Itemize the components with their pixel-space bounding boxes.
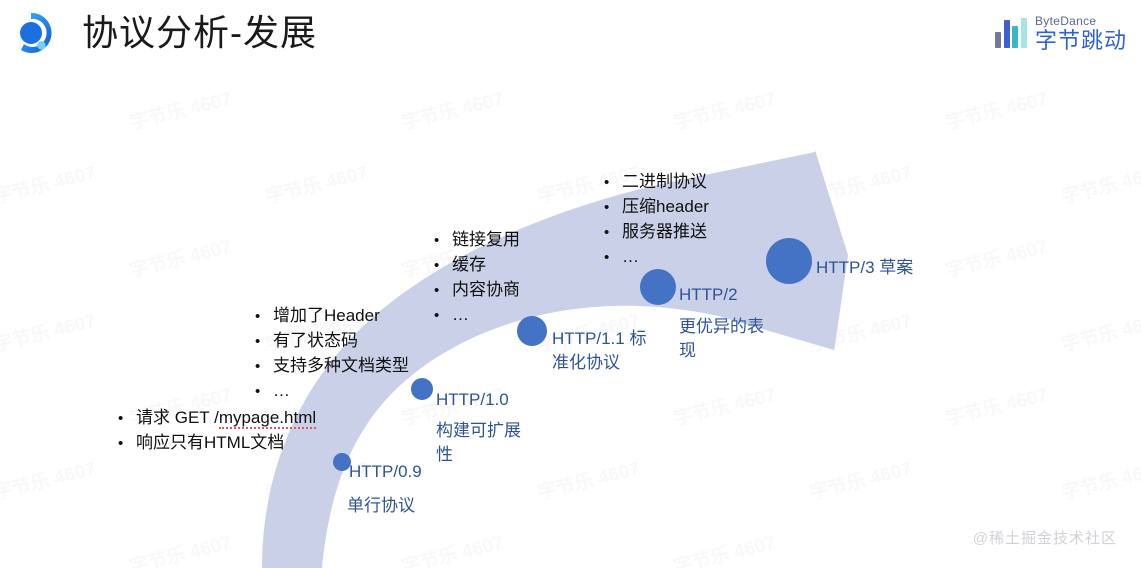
bullet-text: 链接复用 [452,228,520,252]
bullet-text: … [622,245,639,269]
list-item: • 内容协商 [434,278,520,303]
brand-name-en: ByteDance [1035,15,1127,27]
node-dot-http2[interactable] [640,269,676,305]
watermark-tile: 字节乐 4607 [1058,158,1141,209]
node-dot-http10[interactable] [411,378,433,400]
bullet-text: … [452,303,469,327]
watermark-tile: 字节乐 4607 [126,232,234,283]
node-dot-http3[interactable] [766,238,812,284]
list-item: • 增加了Header [255,304,409,329]
bullet-dot-icon: • [604,171,622,195]
page-title: 协议分析-发展 [82,8,317,58]
bullet-text: 响应只有HTML文档 [136,431,284,455]
node-label-http10: HTTP/1.0 [436,389,509,411]
bullet-dot-icon: • [434,279,452,303]
node-sub-http2-line1: 更优异的表 [679,315,789,339]
bullet-dot-icon: • [604,221,622,245]
watermark-tile: 字节乐 4607 [0,454,98,505]
watermark-tile: 字节乐 4607 [1058,306,1141,357]
bullet-text: 服务器推送 [622,220,707,244]
watermark-tile: 字节乐 4607 [670,380,778,431]
node-label-http11-line2: 准化协议 [552,351,662,375]
watermark-tile: 字节乐 4607 [126,528,234,568]
list-item: • … [255,379,409,404]
slide-header: 协议分析-发展 ByteDance 字节跳动 [0,0,1141,66]
watermark-tile: 字节乐 4607 [806,158,914,209]
bullet-text: 增加了Header [273,304,380,328]
watermark-tile: 字节乐 4607 [398,84,506,135]
watermark-tile: 字节乐 4607 [942,84,1050,135]
node-sub-http2-line2: 现 [679,339,789,363]
watermark-tile: 字节乐 4607 [670,528,778,568]
bullet-dot-icon: • [434,304,452,328]
bullet-text: 压缩header [622,195,709,219]
watermark-tile: 字节乐 4607 [670,84,778,135]
list-item: • 服务器推送 [604,220,709,245]
bullet-text: 支持多种文档类型 [273,354,409,378]
node-sub-http10: 构建可扩展 性 [436,419,546,467]
bullet-text: 请求 GET / [136,408,219,427]
qi-circle-logo-icon [8,10,54,56]
bullet-dot-icon: • [255,380,273,404]
list-item: • 二进制协议 [604,170,709,195]
bullet-dot-icon: • [118,432,136,456]
growth-arrow-shape [0,0,1141,568]
bullet-dot-icon: • [118,407,136,431]
bullet-dot-icon: • [255,305,273,329]
bullet-dot-icon: • [434,229,452,253]
list-item: • 响应只有HTML文档 [118,431,316,456]
watermark-tile: 字节乐 4607 [1058,454,1141,505]
bullet-text: … [273,379,290,403]
bullet-text-misspelled: mypage.html [219,408,316,429]
watermark-tile: 字节乐 4607 [806,306,914,357]
bullet-text: 内容协商 [452,278,520,302]
bullet-dot-icon: • [604,246,622,270]
watermark-tile: 字节乐 4607 [398,528,506,568]
node-label-http11-line1: HTTP/1.1 标 [552,327,662,351]
slide-canvas: 协议分析-发展 ByteDance 字节跳动 字节乐 4607 字节乐 4607… [0,0,1141,568]
node-label-http2: HTTP/2 [679,284,738,306]
bullet-dot-icon: • [434,254,452,278]
watermark-tile: 字节乐 4607 [806,454,914,505]
list-item: • 链接复用 [434,228,520,253]
list-item: • 有了状态码 [255,329,409,354]
bullet-group-http11: • 链接复用 • 缓存 • 内容协商 • … [434,228,520,328]
bullet-dot-icon: • [604,196,622,220]
community-watermark: @稀土掘金技术社区 [973,527,1117,548]
watermark-tile: 字节乐 4607 [942,380,1050,431]
node-sub-http10-line2: 性 [436,443,546,467]
watermark-tile: 字节乐 4607 [262,158,370,209]
brand-name-cn: 字节跳动 [1035,30,1127,52]
list-item: • … [604,245,709,270]
watermark-tile: 字节乐 4607 [0,306,98,357]
bytedance-bars-icon [995,18,1027,48]
node-sub-http09: 单行协议 [347,494,415,518]
bullet-group-http09: • 请求 GET /mypage.html • 响应只有HTML文档 [118,406,316,456]
bullet-group-http2: • 二进制协议 • 压缩header • 服务器推送 • … [604,170,709,270]
list-item: • 压缩header [604,195,709,220]
node-label-http09: HTTP/0.9 [349,461,422,483]
bullet-text: 有了状态码 [273,329,358,353]
watermark-tile: 字节乐 4607 [942,232,1050,283]
node-label-http3: HTTP/3 草案 [816,257,913,279]
watermark-tile: 字节乐 4607 [126,84,234,135]
node-sub-http10-line1: 构建可扩展 [436,419,546,443]
list-item: • 缓存 [434,253,520,278]
list-item: • 请求 GET /mypage.html [118,406,316,431]
node-dot-http11[interactable] [517,316,547,346]
watermark-tile: 字节乐 4607 [0,158,98,209]
bullet-group-http10: • 增加了Header • 有了状态码 • 支持多种文档类型 • … [255,304,409,404]
bullet-dot-icon: • [255,330,273,354]
node-label-http11: HTTP/1.1 标 准化协议 [552,327,662,375]
bytedance-logo: ByteDance 字节跳动 [995,8,1127,58]
bullet-text: 缓存 [452,253,486,277]
bullet-text: 二进制协议 [622,170,707,194]
list-item: • 支持多种文档类型 [255,354,409,379]
bullet-dot-icon: • [255,355,273,379]
node-sub-http2: 更优异的表 现 [679,315,789,363]
list-item: • … [434,303,520,328]
watermark-tile: 字节乐 4607 [534,454,642,505]
